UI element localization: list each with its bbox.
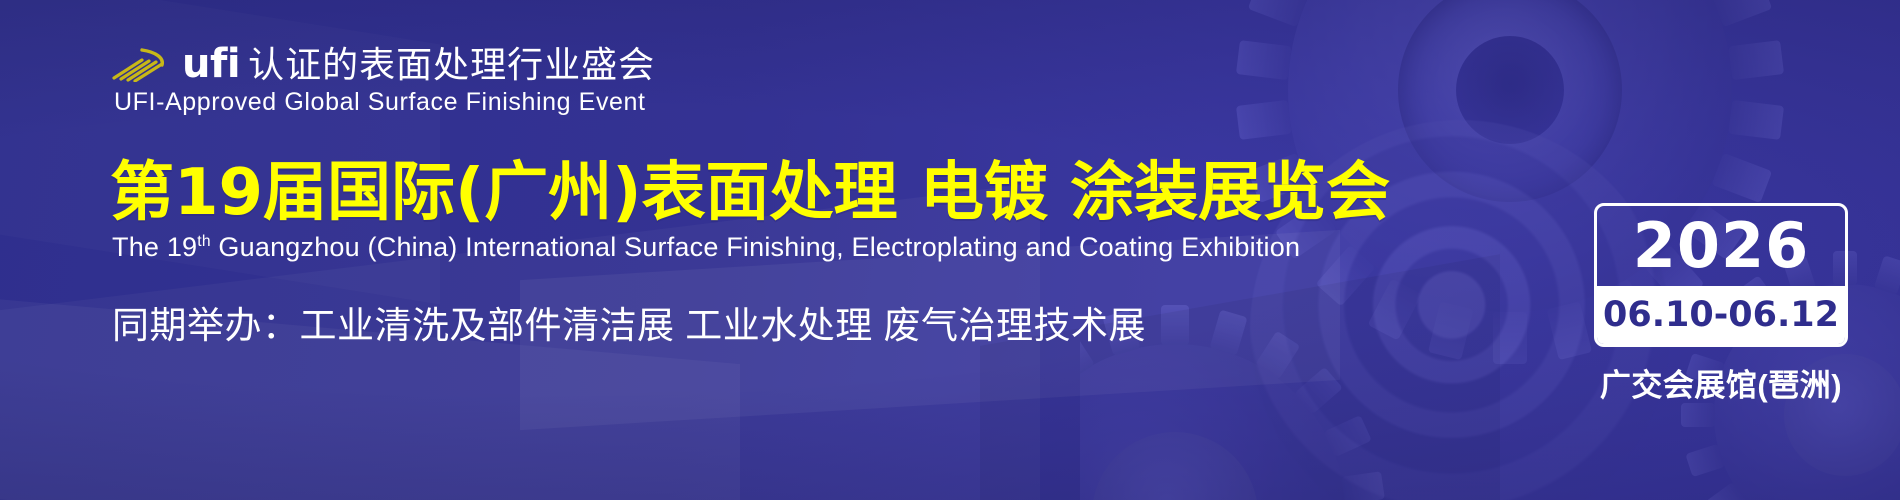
ufi-wordmark: ufi: [182, 44, 240, 84]
main-headline-english: The 19th Guangzhou (China) International…: [112, 232, 1300, 263]
date-badge: 2026 06.10-06.12: [1594, 203, 1848, 347]
headline-english-rest: Guangzhou (China) International Surface …: [211, 232, 1300, 262]
ufi-swoosh-icon: [112, 48, 174, 82]
main-headline-chinese: 第19届国际(广州)表面处理 电镀 涂装展览会: [110, 160, 1390, 227]
concurrent-events-line: 同期举办：工业清洗及部件清洁展 工业水处理 废气治理技术展: [112, 295, 1146, 349]
badge-date-range: 06.10-06.12: [1597, 286, 1845, 344]
ufi-english-tagline: UFI-Approved Global Surface Finishing Ev…: [114, 88, 646, 117]
headline-english-prefix: The 19: [112, 232, 197, 262]
headline-ordinal-superscript: th: [197, 233, 210, 250]
ufi-logo-lockup: ufi 认证的表面处理行业盛会: [112, 42, 655, 82]
venue-name: 广交会展馆(琶洲): [1594, 360, 1848, 405]
exhibition-banner: ufi 认证的表面处理行业盛会 UFI-Approved Global Surf…: [0, 0, 1900, 500]
badge-year: 2026: [1597, 206, 1845, 286]
ufi-chinese-tagline: 认证的表面处理行业盛会: [248, 47, 655, 83]
